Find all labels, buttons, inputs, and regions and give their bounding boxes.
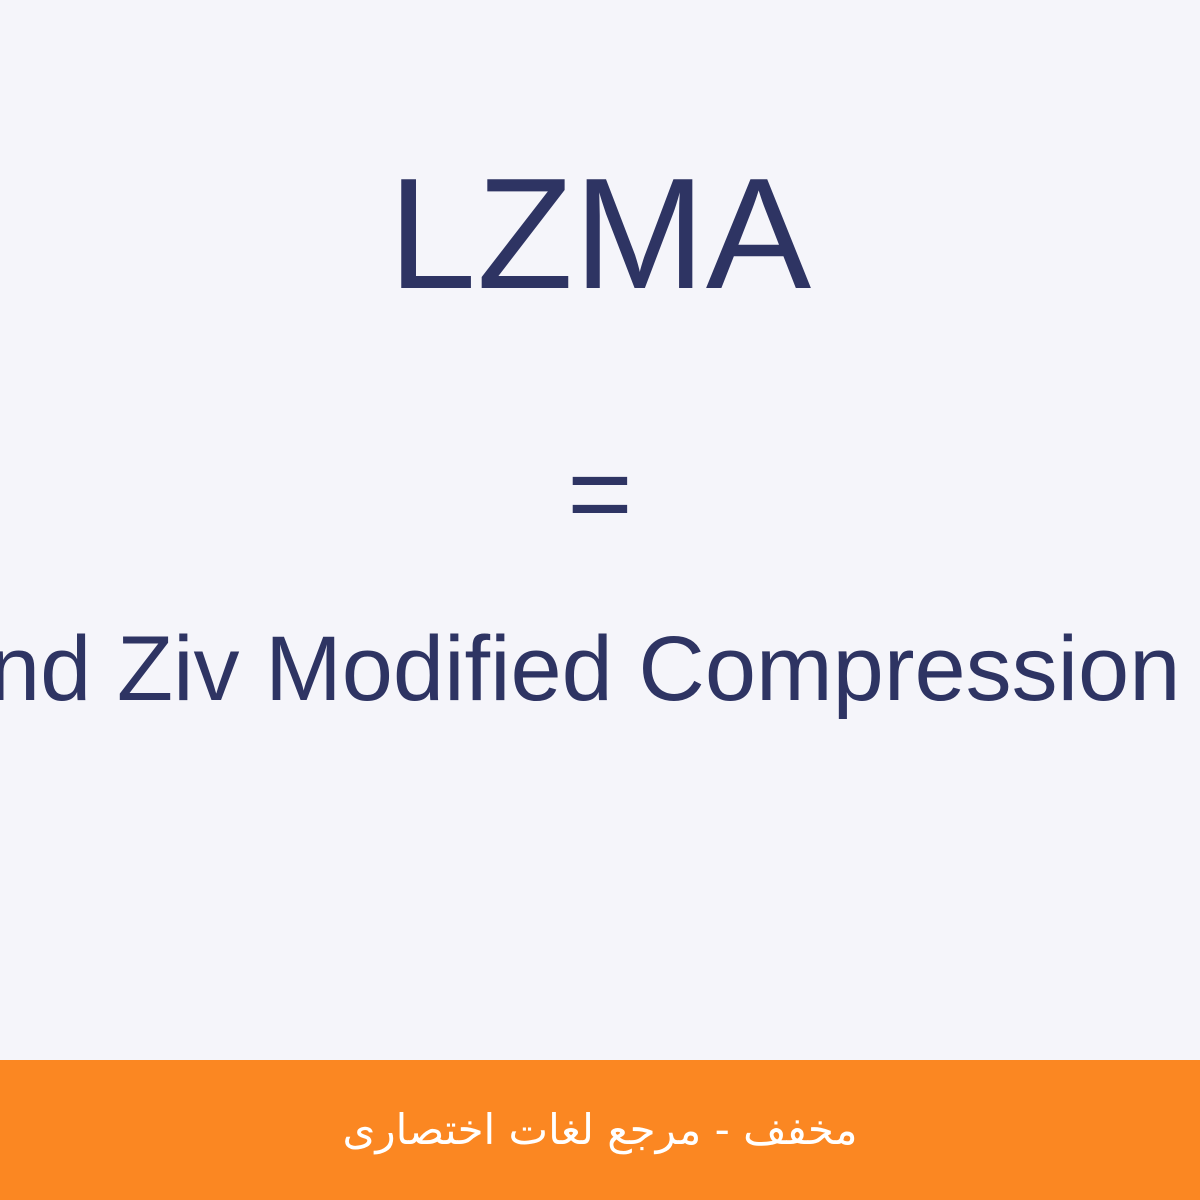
- abbreviation-title: LZMA: [0, 155, 1200, 313]
- abbreviation-card: LZMA = Lempel and Ziv Modified Compressi…: [0, 0, 1200, 1200]
- card-stage: LZMA = Lempel and Ziv Modified Compressi…: [0, 0, 1200, 1060]
- expansion-row: Lempel and Ziv Modified Compression Algo…: [0, 600, 1200, 740]
- footer-brand-bar: مخفف - مرجع لغات اختصاری: [0, 1060, 1200, 1200]
- equals-separator: =: [0, 438, 1200, 550]
- footer-brand-text: مخفف - مرجع لغات اختصاری: [343, 1105, 858, 1155]
- expansion-text: Lempel and Ziv Modified Compression Algo…: [0, 618, 1200, 721]
